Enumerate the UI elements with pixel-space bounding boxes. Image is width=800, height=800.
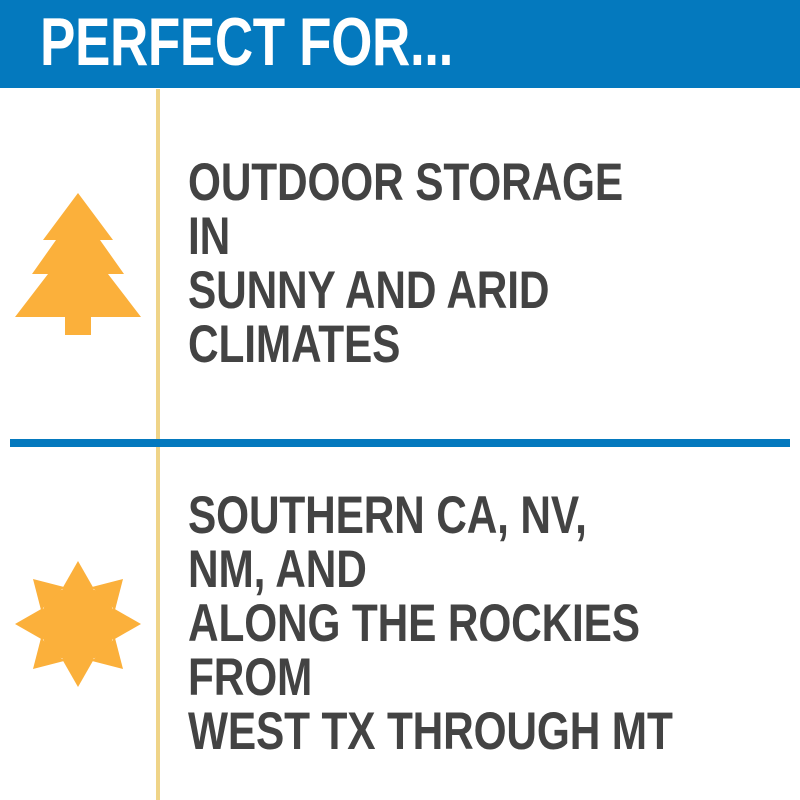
icon-cell-1 xyxy=(0,89,156,439)
page-title: PERFECT FOR... xyxy=(40,6,453,78)
text-cell-2: SOUTHERN CA, NV, NM, AND ALONG THE ROCKI… xyxy=(188,447,794,800)
text-cell-1: OUTDOOR STORAGE IN SUNNY AND ARID CLIMAT… xyxy=(188,89,794,439)
feature-row-2: SOUTHERN CA, NV, NM, AND ALONG THE ROCKI… xyxy=(0,447,800,800)
horizontal-divider xyxy=(10,439,790,447)
icon-cell-2 xyxy=(0,447,156,800)
feature-text-2: SOUTHERN CA, NV, NM, AND ALONG THE ROCKI… xyxy=(188,489,673,759)
feature-text-1: OUTDOOR STORAGE IN SUNNY AND ARID CLIMAT… xyxy=(188,156,673,372)
feature-row-1: OUTDOOR STORAGE IN SUNNY AND ARID CLIMAT… xyxy=(0,89,800,439)
evergreen-tree-icon xyxy=(15,193,141,335)
sun-icon xyxy=(15,561,141,687)
header-bar: PERFECT FOR... xyxy=(0,0,800,88)
infographic-page: PERFECT FOR... OUTDOOR STORAGE IN SUNNY … xyxy=(0,0,800,800)
